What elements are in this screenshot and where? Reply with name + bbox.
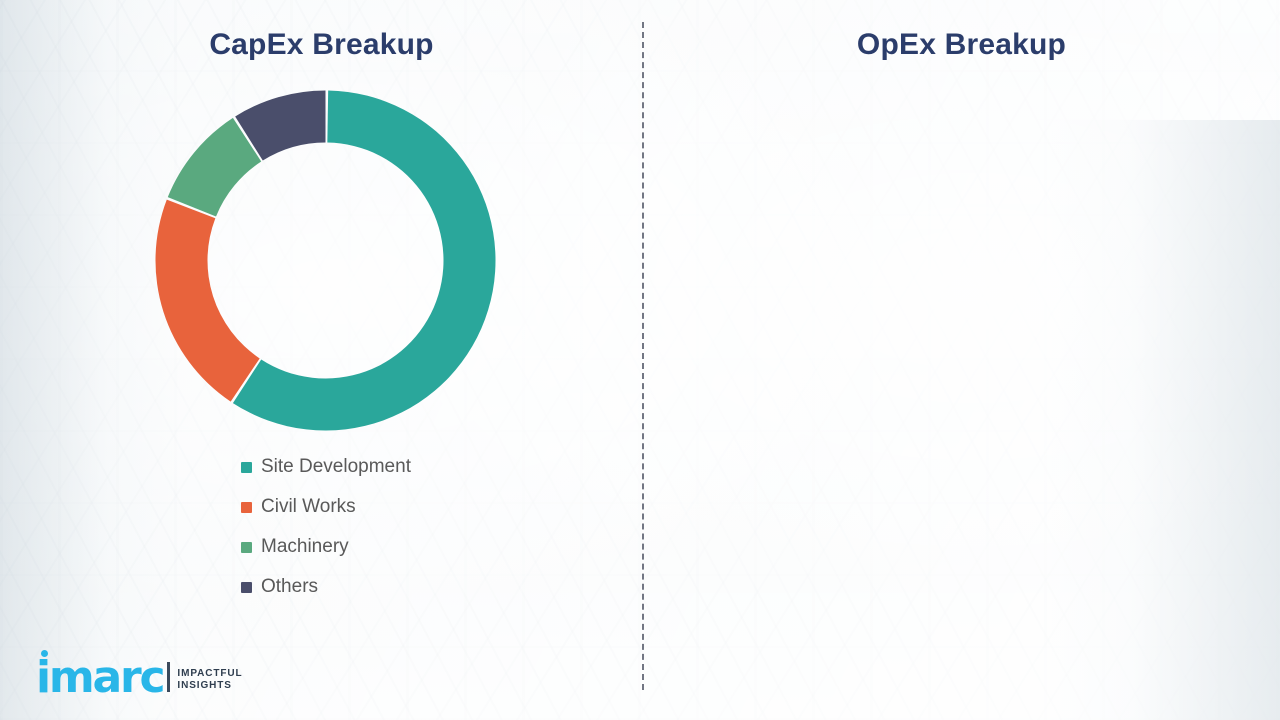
legend-swatch-icon [241,582,252,593]
logo-dot-icon [41,650,48,657]
opex-panel: OpEx Breakup Raw MaterialsSalaries and W… [643,0,1280,720]
capex-legend-item: Machinery [241,528,411,566]
imarc-tagline: IMPACTFUL INSIGHTS [177,668,242,691]
tagline-line-1: IMPACTFUL [177,668,242,680]
opex-title: OpEx Breakup [643,28,1280,62]
capex-donut-svg [153,88,498,433]
legend-swatch-icon [241,462,252,473]
legend-item-label: Site Development [261,456,411,478]
legend-item-label: Civil Works [261,496,356,518]
tagline-line-2: INSIGHTS [177,680,242,692]
capex-legend-item: Civil Works [241,488,411,526]
legend-swatch-icon [241,542,252,553]
donut-segment [156,200,260,402]
imarc-wordmark-text: imarc [36,652,163,703]
legend-item-label: Others [261,576,318,598]
legend-item-label: Machinery [261,536,349,558]
imarc-logo: imarc IMPACTFUL INSIGHTS [36,660,243,696]
legend-swatch-icon [241,502,252,513]
capex-legend-item: Others [241,568,411,606]
slide-canvas: CapEx Breakup Site DevelopmentCivil Work… [0,0,1280,720]
logo-divider-bar [167,662,170,692]
capex-panel: CapEx Breakup Site DevelopmentCivil Work… [0,0,643,720]
capex-title: CapEx Breakup [0,28,643,62]
capex-donut-chart [153,88,498,433]
capex-legend-item: Site Development [241,448,411,486]
capex-legend: Site DevelopmentCivil WorksMachineryOthe… [241,448,411,608]
imarc-wordmark: imarc [36,660,163,696]
